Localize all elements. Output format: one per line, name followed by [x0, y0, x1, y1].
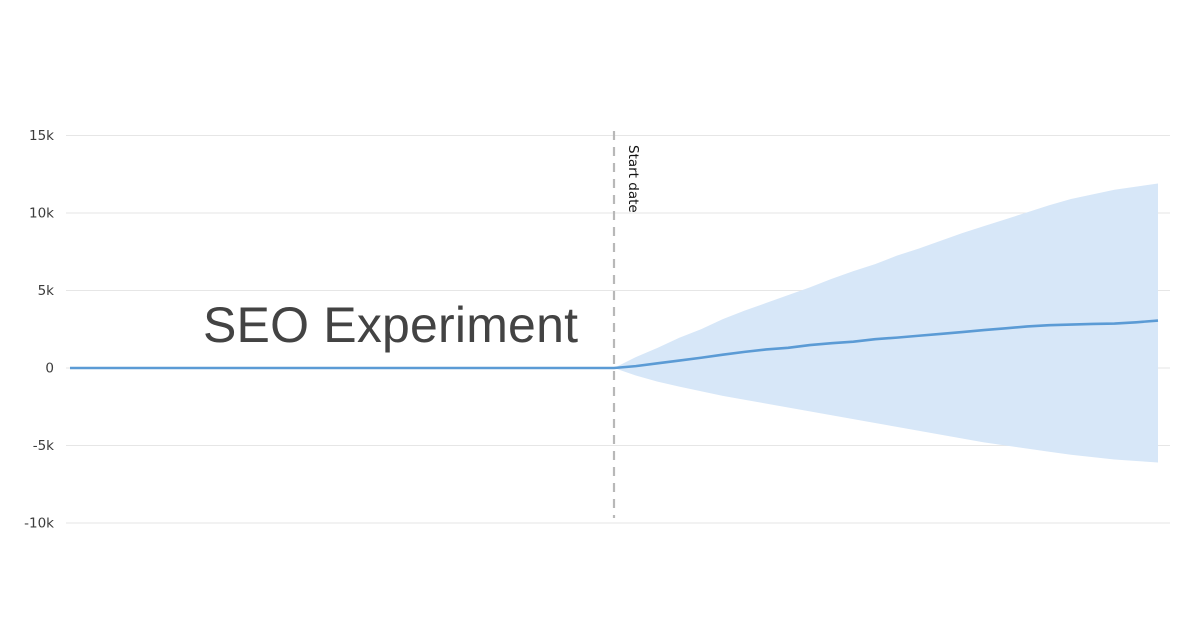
y-tick-label: -10k — [24, 516, 54, 532]
start-date-marker[interactable]: Start date — [614, 131, 641, 518]
y-tick-label: 5k — [38, 283, 55, 299]
chart-canvas: 15k10k5k0-5k-10k Start date SEO Experime… — [0, 0, 1200, 630]
y-axis-tick-labels: 15k10k5k0-5k-10k — [24, 128, 54, 532]
y-tick-label: -5k — [33, 438, 54, 454]
seo-experiment-chart: 15k10k5k0-5k-10k Start date — [0, 0, 1200, 630]
y-tick-label: 0 — [45, 361, 54, 377]
y-tick-label: 10k — [29, 206, 54, 222]
page-title: SEO Experiment — [203, 300, 578, 350]
y-tick-label: 15k — [29, 128, 54, 144]
start-date-label: Start date — [625, 145, 641, 213]
